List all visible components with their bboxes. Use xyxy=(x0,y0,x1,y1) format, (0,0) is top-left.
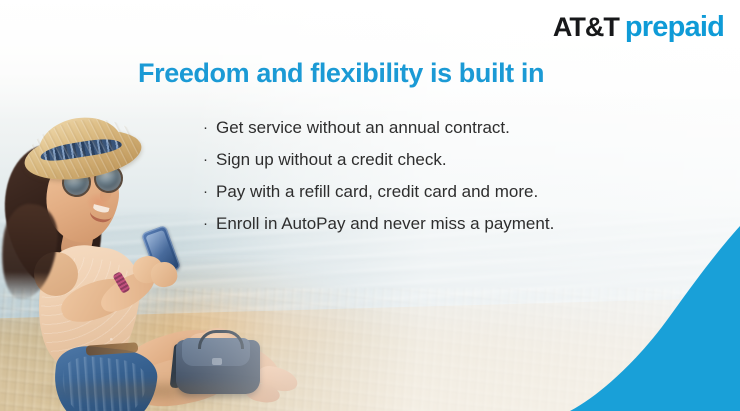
list-item: · Enroll in AutoPay and never miss a pay… xyxy=(203,208,554,240)
bullet-dot-icon: · xyxy=(203,176,208,208)
benefits-list: · Get service without an annual contract… xyxy=(203,112,554,240)
logo-att-wordmark: AT&T xyxy=(553,12,619,43)
list-item: · Pay with a refill card, credit card an… xyxy=(203,176,554,208)
list-item-label: Sign up without a credit check. xyxy=(216,144,447,176)
list-item-label: Enroll in AutoPay and never miss a payme… xyxy=(216,208,554,240)
list-item: · Get service without an annual contract… xyxy=(203,112,554,144)
logo-prepaid-wordmark: prepaid xyxy=(625,11,724,44)
bullet-dot-icon: · xyxy=(203,208,208,240)
bullet-dot-icon: · xyxy=(203,112,208,144)
list-item-label: Get service without an annual contract. xyxy=(216,112,510,144)
list-item-label: Pay with a refill card, credit card and … xyxy=(216,176,538,208)
list-item: · Sign up without a credit check. xyxy=(203,144,554,176)
bullet-dot-icon: · xyxy=(203,144,208,176)
att-prepaid-banner: AT&T prepaid Freedom and flexibility is … xyxy=(0,0,740,411)
att-prepaid-logo: AT&T prepaid xyxy=(553,11,724,44)
page-title: Freedom and flexibility is built in xyxy=(138,58,544,89)
